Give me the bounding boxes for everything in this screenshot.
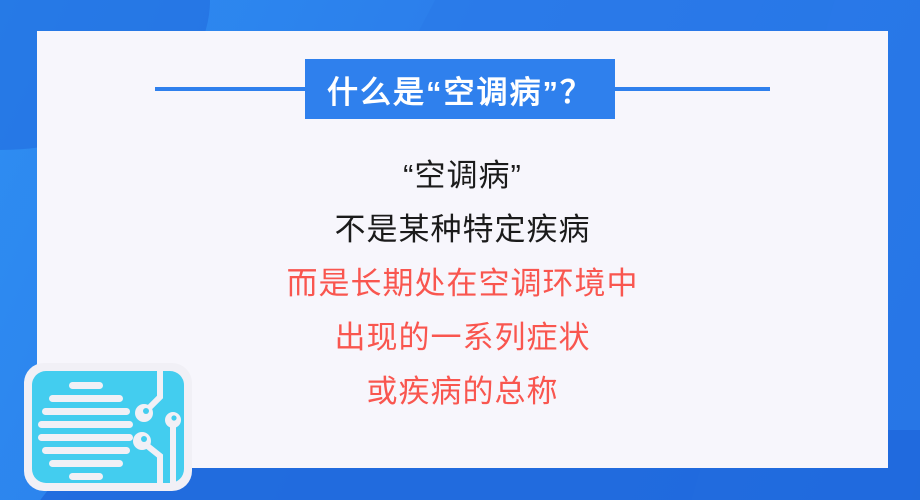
- body-line-2: 不是某种特定疾病: [37, 203, 888, 257]
- circuit-card-icon: [22, 361, 194, 493]
- body-line-3: 而是长期处在空调环境中: [37, 257, 888, 311]
- heading-row: 什么是“空调病”？: [37, 59, 888, 119]
- heading-rule-left: [155, 87, 305, 91]
- body-line-4: 出现的一系列症状: [37, 311, 888, 365]
- heading-rule-right: [615, 87, 770, 91]
- page-title: 什么是“空调病”？: [305, 59, 615, 119]
- body-line-1: “空调病”: [37, 149, 888, 203]
- slide-canvas: 什么是“空调病”？ “空调病” 不是某种特定疾病 而是长期处在空调环境中 出现的…: [0, 0, 920, 500]
